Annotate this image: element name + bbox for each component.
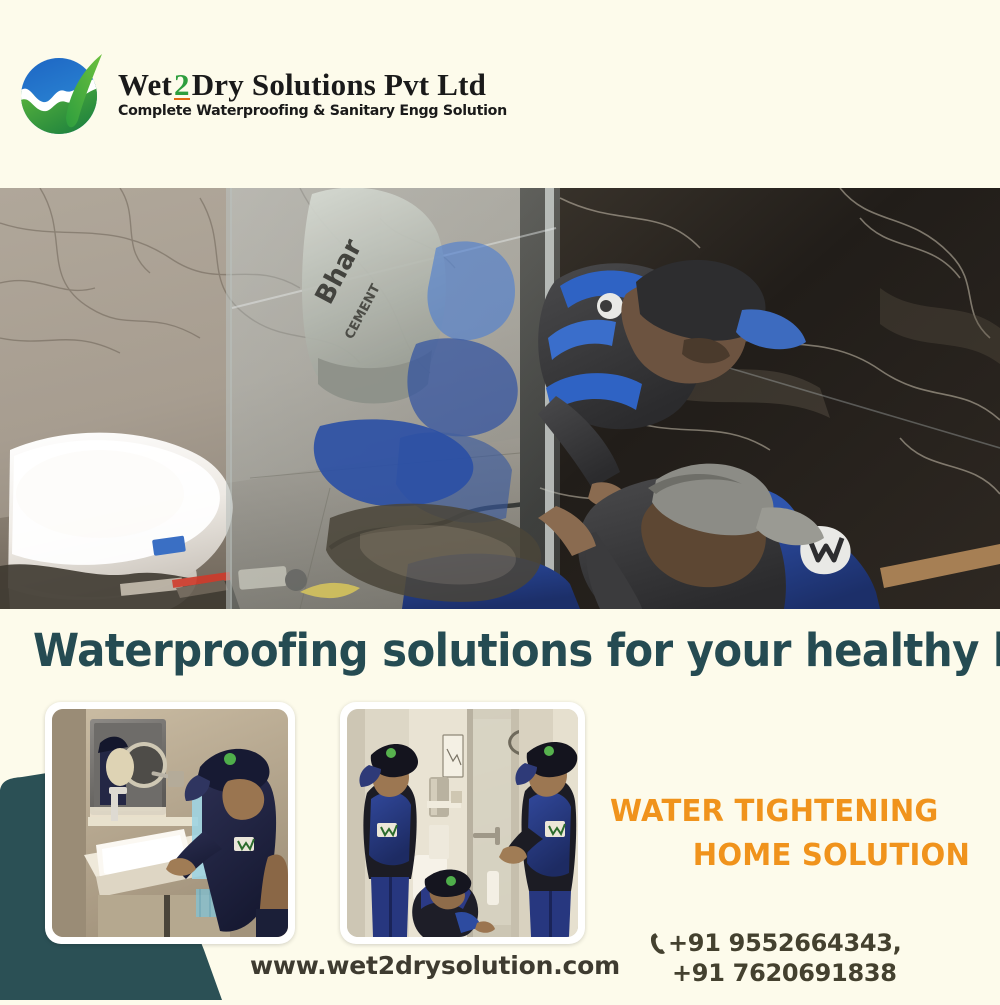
headline-text: Waterproofing solutions for your healthy… [33,624,1000,677]
brand-tagline: Complete Waterproofing & Sanitary Engg S… [118,103,507,119]
thumbnail-image-1 [52,709,288,937]
phone-number-1: +91 9552664343, [668,929,901,957]
brand-title-part1: Wet [118,67,172,102]
tagline-line-2: HOME SOLUTION [621,834,970,878]
phone-handset-icon [650,932,667,955]
brand-title: Wet2Dry Solutions Pvt Ltd [118,69,507,102]
wet2dry-wave-circle-logo-icon [14,46,110,142]
tagline-block: WATER TIGHTENING HOME SOLUTION [610,790,970,879]
thumbnail-shower-enclosure-team[interactable] [340,702,585,944]
brand-logo[interactable]: Wet2Dry Solutions Pvt Ltd Complete Water… [14,46,507,142]
tagline-line-1: WATER TIGHTENING [610,790,959,834]
website-url[interactable]: www.wet2drysolution.com [250,951,620,980]
brand-title-accent-2: 2 [172,67,192,102]
thumbnail-washbasin-install[interactable] [45,702,295,944]
phone-row-2[interactable]: +91 7620691838 [672,959,980,987]
hero-image: Bhar CEMENT [0,188,1000,609]
headline: Waterproofing solutions for your healthy… [0,609,1000,691]
phone-row-1[interactable]: +91 9552664343, [650,929,980,957]
thumbnail-image-2 [347,709,578,937]
contact-phone-block: +91 9552664343, +91 7620691838 [650,929,980,987]
phone-number-2: +91 7620691838 [672,959,897,987]
brand-wordmark: Wet2Dry Solutions Pvt Ltd Complete Water… [118,69,507,120]
brand-title-part2: Dry Solutions Pvt Ltd [192,67,486,102]
header-bar: Wet2Dry Solutions Pvt Ltd Complete Water… [0,0,1000,188]
